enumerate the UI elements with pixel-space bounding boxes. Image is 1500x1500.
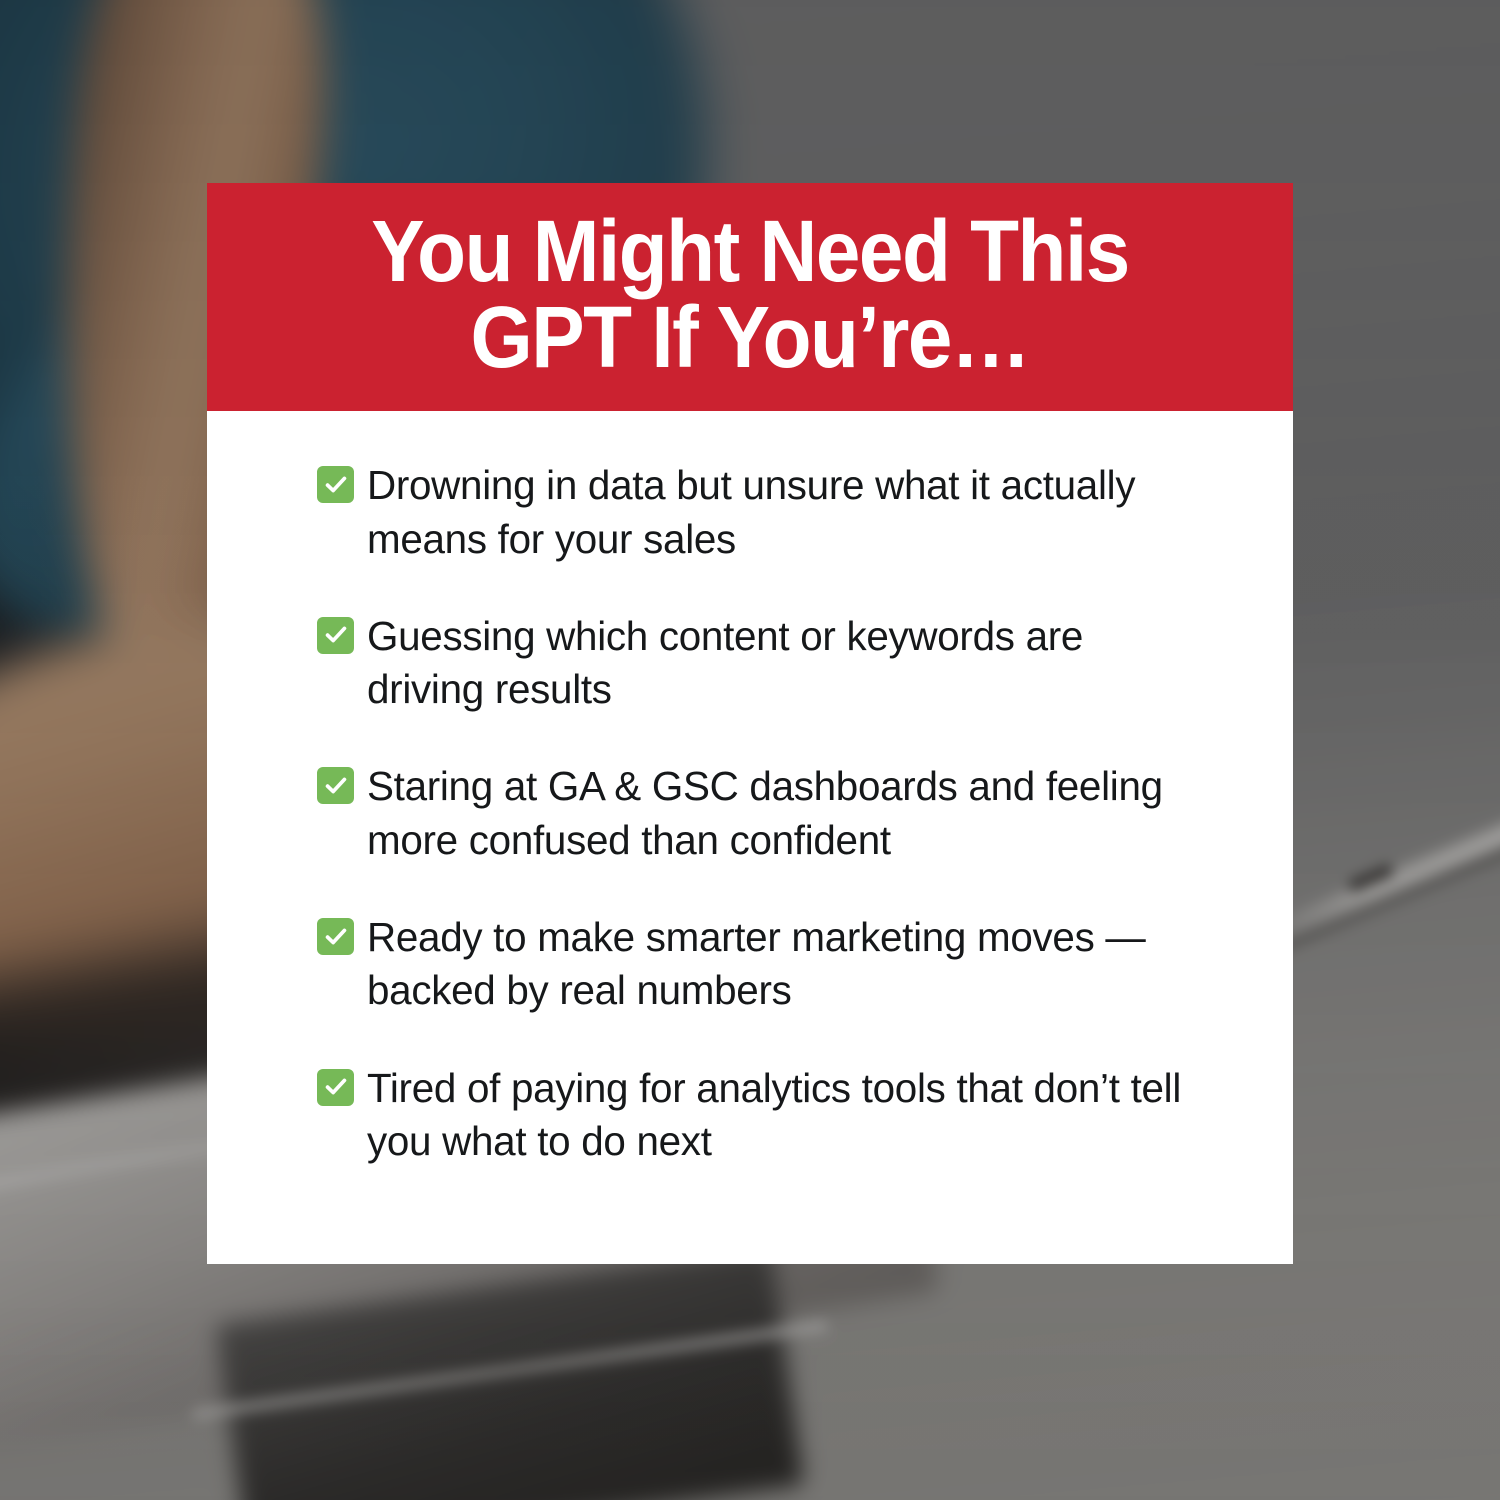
- list-item-text: Ready to make smarter marketing moves — …: [367, 911, 1194, 1018]
- list-item-text: Tired of paying for analytics tools that…: [367, 1062, 1194, 1169]
- green-check-mark-icon: [317, 617, 354, 654]
- content-card: You Might Need This GPT If You’re… Drown…: [207, 183, 1293, 1264]
- page-title-line-1: You Might Need This: [302, 209, 1198, 295]
- list-item: Guessing which content or keywords are d…: [317, 610, 1233, 717]
- green-check-mark-icon: [317, 1069, 354, 1106]
- title-banner: You Might Need This GPT If You’re…: [207, 183, 1293, 411]
- page-title-line-2: GPT If You’re…: [302, 295, 1198, 381]
- list-item: Drowning in data but unsure what it actu…: [317, 459, 1233, 566]
- green-check-mark-icon: [317, 918, 354, 955]
- list-item: Staring at GA & GSC dashboards and feeli…: [317, 760, 1233, 867]
- list-item-text: Drowning in data but unsure what it actu…: [367, 459, 1194, 566]
- green-check-mark-icon: [317, 466, 354, 503]
- checklist-panel: Drowning in data but unsure what it actu…: [207, 411, 1293, 1264]
- list-item-text: Guessing which content or keywords are d…: [367, 610, 1194, 717]
- list-item-text: Staring at GA & GSC dashboards and feeli…: [367, 760, 1194, 867]
- list-item: Ready to make smarter marketing moves — …: [317, 911, 1233, 1018]
- list-item: Tired of paying for analytics tools that…: [317, 1062, 1233, 1169]
- green-check-mark-icon: [317, 767, 354, 804]
